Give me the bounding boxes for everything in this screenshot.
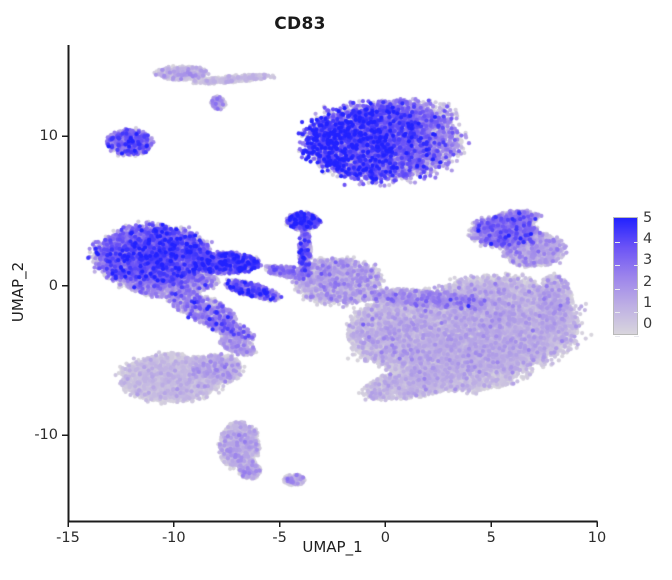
colorbar-tick-mark	[634, 242, 639, 243]
colorbar-tick-label: 1	[643, 296, 652, 311]
colorbar-tick-label: 4	[643, 232, 652, 247]
colorbar-tick-mark	[615, 336, 620, 337]
colorbar-tick-label: 0	[643, 317, 652, 332]
y-tick-label: -10	[10, 427, 58, 443]
colorbar-tick-mark	[634, 265, 639, 266]
colorbar-tick-mark	[615, 242, 620, 243]
colorbar-tick-mark	[615, 289, 620, 290]
colorbar-tick-mark	[634, 336, 639, 337]
y-axis-title: UMAP_2	[9, 222, 27, 362]
colorbar-tick-mark	[634, 289, 639, 290]
colorbar-tick-mark	[634, 312, 639, 313]
x-axis-title: UMAP_1	[68, 538, 597, 556]
y-tick-label: 10	[10, 128, 58, 144]
scatter-canvas	[0, 0, 672, 576]
colorbar-gradient[interactable]	[613, 217, 638, 335]
colorbar-tick-mark	[615, 265, 620, 266]
colorbar-tick-label: 5	[643, 211, 652, 226]
colorbar-tick-label: 2	[643, 275, 652, 290]
colorbar-tick-mark	[615, 312, 620, 313]
colorbar-tick-label: 3	[643, 253, 652, 268]
umap-feature-plot: CD83 -15-10-50510100-10 UMAP_1 UMAP_2 54…	[0, 0, 672, 576]
